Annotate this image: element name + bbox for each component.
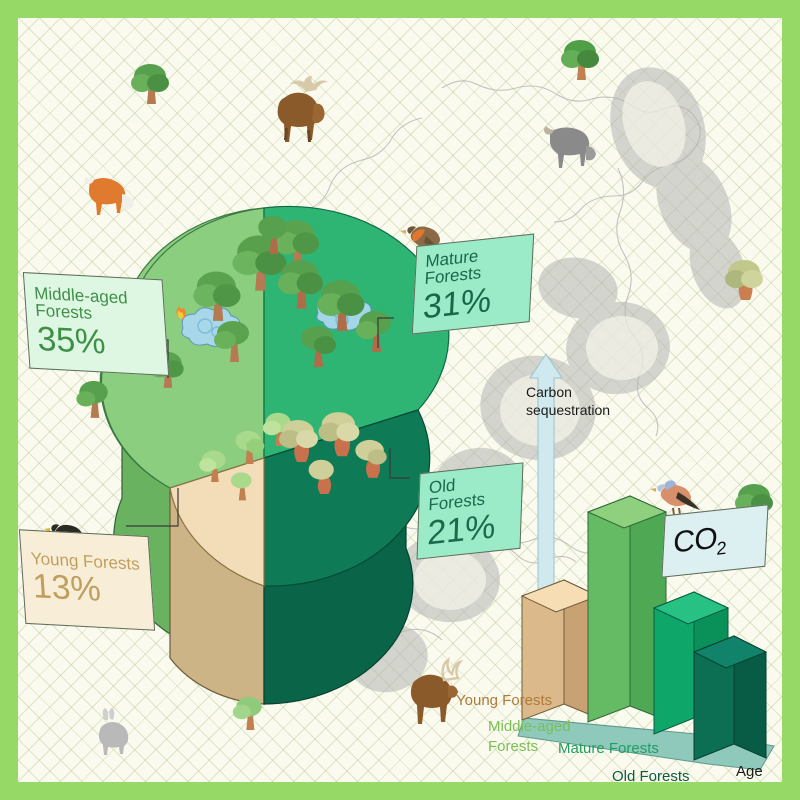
carbon-label-line1: Carbon — [526, 384, 610, 402]
callout-value: 13% — [32, 569, 144, 610]
callout-value: 21% — [427, 508, 512, 552]
callout-mature-forests[interactable]: Mature Forests 31% — [412, 233, 534, 334]
callout-value: 35% — [36, 322, 158, 364]
decor-layer — [18, 18, 782, 782]
chaffinch-icon — [650, 480, 700, 515]
bar-label-young-forests: Young Forests — [456, 692, 552, 709]
co2-label: CO2 — [672, 519, 758, 563]
infographic-paper: Middle-aged Forests 35% Mature Forests 3… — [18, 18, 782, 782]
callout-young-forests[interactable]: Young Forests 13% — [19, 529, 155, 630]
callout-value: 31% — [422, 280, 522, 326]
carbon-sequestration-axis-label: Carbon sequestration — [526, 384, 610, 419]
bar-label-middle-aged-line1: Middle-aged — [488, 718, 571, 735]
infographic-canvas: Middle-aged Forests 35% Mature Forests 3… — [0, 0, 800, 800]
moose-icon — [278, 76, 328, 142]
age-axis-label: Age — [736, 763, 763, 780]
carbon-label-line2: sequestration — [526, 402, 610, 420]
hare-icon — [99, 708, 128, 755]
callout-middle-aged-forests[interactable]: Middle-aged Forests 35% — [23, 272, 169, 376]
bar-label-mature-forests: Mature Forests — [558, 740, 659, 757]
scatter-tree-icon — [76, 40, 773, 730]
callout-old-forests[interactable]: Old Forests 21% — [417, 462, 524, 559]
deer-icon — [411, 660, 460, 724]
bar-label-middle-aged-line2: Forests — [488, 738, 538, 755]
fox-icon — [84, 177, 134, 215]
bar-label-old-forests: Old Forests — [612, 768, 690, 782]
co2-sign[interactable]: CO2 — [661, 504, 768, 577]
wolf-icon — [544, 126, 596, 168]
